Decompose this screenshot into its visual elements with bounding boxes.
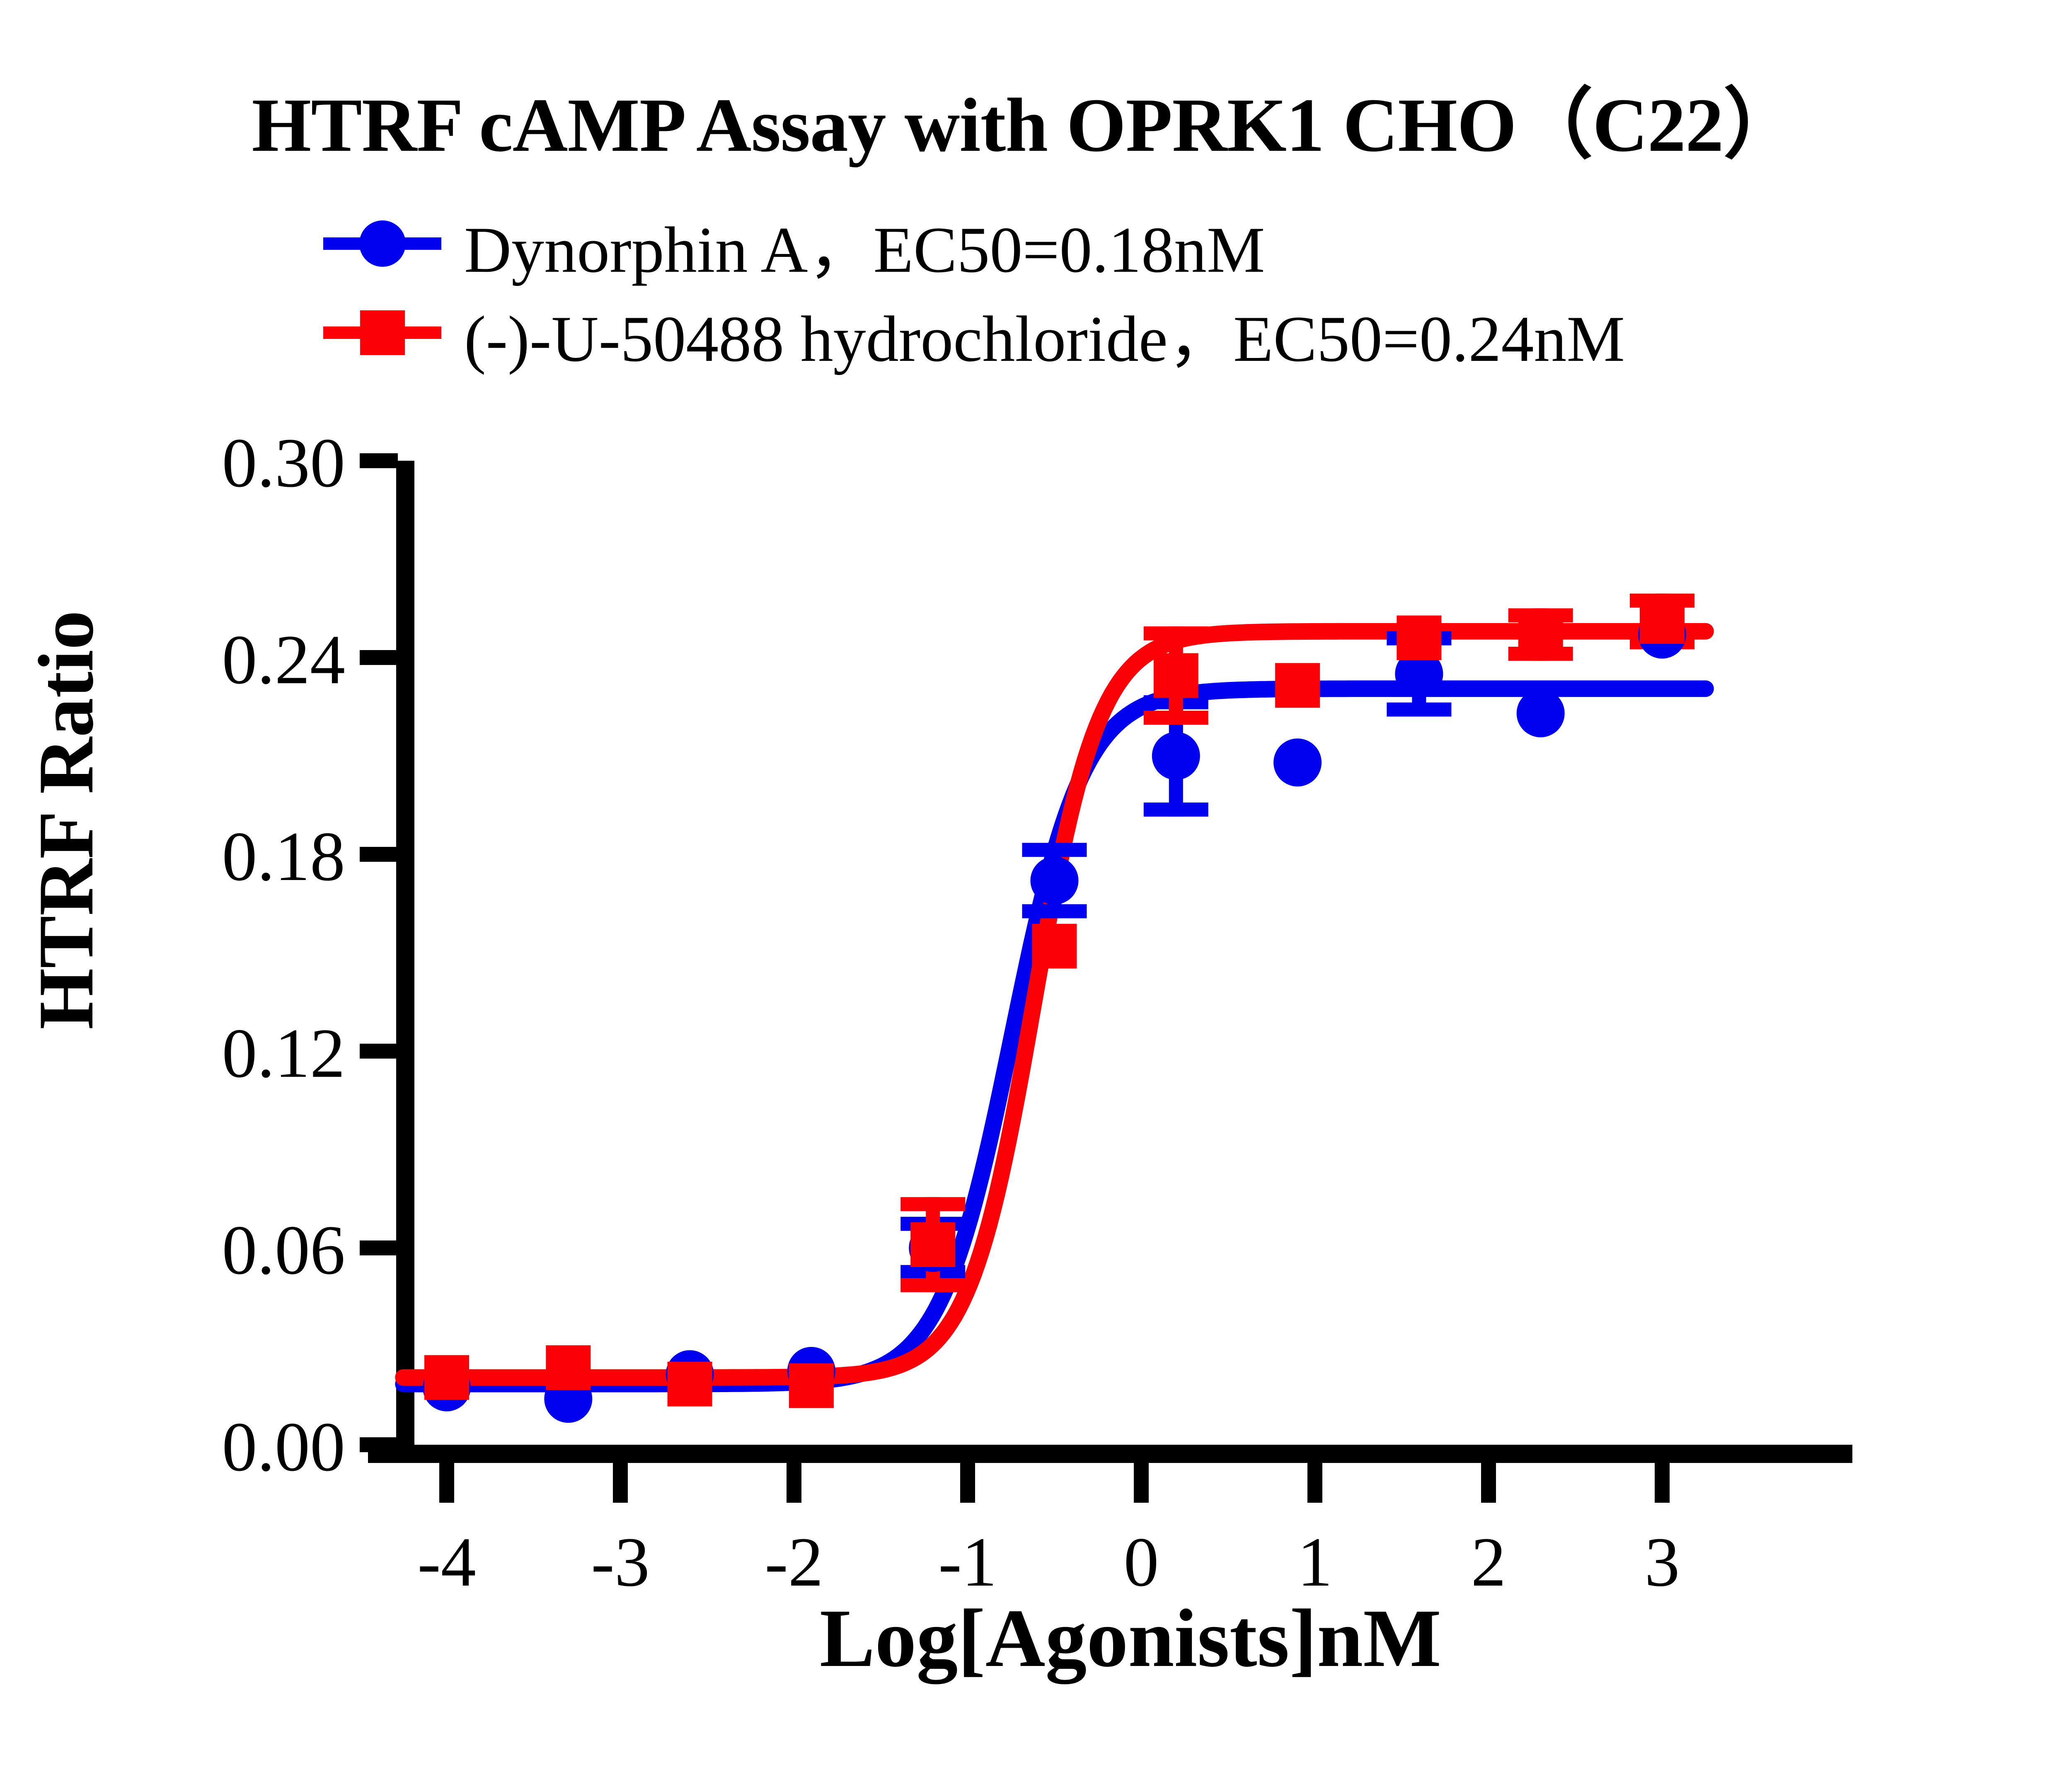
y-tick-label: 0.30 — [222, 424, 346, 502]
fit-curve-red — [403, 631, 1705, 1378]
error-bar-cap-bottom — [1144, 711, 1208, 725]
x-tick-label-group: -4-3-2-10123 — [417, 1523, 1680, 1601]
data-point-square — [424, 1355, 469, 1400]
y-axis-line — [396, 461, 414, 1463]
data-point-square — [546, 1345, 591, 1390]
error-bar-cap-bottom — [900, 1278, 965, 1292]
y-tick-mark — [360, 1240, 398, 1255]
data-point-square — [1275, 663, 1320, 708]
x-tick-label: 2 — [1471, 1523, 1506, 1601]
x-tick-mark — [787, 1463, 801, 1503]
data-point-square — [1154, 653, 1198, 698]
error-bar-cap-top — [1144, 626, 1208, 641]
y-tick-mark — [360, 453, 398, 468]
data-point-square — [1397, 616, 1441, 660]
x-tick-mark — [1481, 1463, 1496, 1503]
y-tick-label: 0.00 — [222, 1408, 346, 1486]
y-tick-label-group: 0.300.240.180.120.060.00 — [222, 424, 346, 1486]
data-point-square — [1518, 612, 1563, 657]
plot-area: 0.300.240.180.120.060.00 -4-3-2-10123 — [0, 0, 2072, 1765]
data-point-circle — [1031, 856, 1079, 904]
data-point-circle — [1152, 732, 1200, 780]
x-tick-label: -2 — [765, 1523, 823, 1601]
y-tick-mark — [360, 847, 398, 862]
x-tick-mark — [1655, 1463, 1670, 1503]
error-bar-cap-bottom — [1022, 904, 1087, 918]
fit-curve-blue — [403, 689, 1705, 1384]
y-tick-label: 0.18 — [222, 817, 346, 895]
data-point-square — [910, 1222, 955, 1267]
y-tick-label: 0.06 — [222, 1211, 346, 1289]
data-point-circle — [1517, 689, 1565, 737]
x-tick-label: -3 — [591, 1523, 650, 1601]
chart-page: HTRF cAMP Assay with OPRK1 CHO（C22） Dyno… — [0, 0, 2072, 1765]
x-tick-mark — [1134, 1463, 1149, 1503]
x-tick-label: -4 — [417, 1523, 476, 1601]
x-tick-label: 3 — [1645, 1523, 1680, 1601]
y-tick-mark — [360, 650, 398, 665]
data-point-circle — [1273, 738, 1322, 786]
x-tick-mark — [613, 1463, 628, 1503]
y-tick-label: 0.24 — [222, 621, 346, 699]
fit-curves — [403, 631, 1705, 1384]
error-bar-cap-top — [1022, 843, 1087, 857]
x-tick-mark — [1307, 1463, 1322, 1503]
data-point-square — [1640, 599, 1685, 644]
error-bar-cap-top — [900, 1197, 965, 1211]
data-markers — [423, 599, 1686, 1423]
x-tick-mark — [960, 1463, 975, 1503]
y-tick-mark — [360, 1437, 398, 1452]
x-axis-line — [368, 1445, 1852, 1463]
error-bar-cap-bottom — [1144, 803, 1208, 817]
x-tick-label: 1 — [1297, 1523, 1333, 1601]
data-point-square — [1032, 924, 1077, 969]
y-tick-label: 0.12 — [222, 1014, 346, 1092]
x-tick-label: -1 — [938, 1523, 997, 1601]
x-tick-label: 0 — [1124, 1523, 1159, 1601]
y-tick-mark — [360, 1044, 398, 1059]
data-point-square — [789, 1364, 834, 1408]
data-point-square — [668, 1362, 712, 1407]
error-bar-cap-bottom — [1387, 703, 1451, 717]
x-tick-mark — [439, 1463, 454, 1503]
